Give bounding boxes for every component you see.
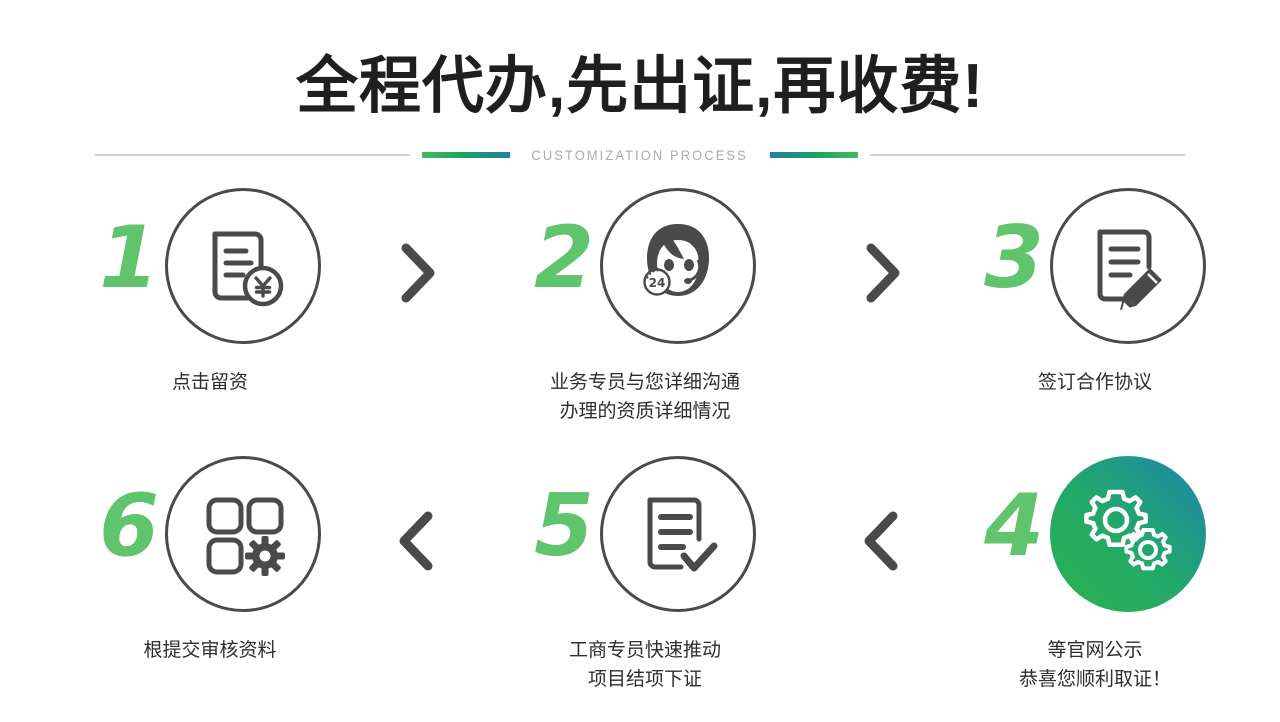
step-2-badge: 2 xyxy=(465,186,825,346)
step-5-label-line1: 工商专员快速推动 xyxy=(465,636,825,665)
page-title: 全程代办,先出证,再收费! xyxy=(0,54,1280,119)
step-5-label-line2: 项目结项下证 xyxy=(465,665,825,694)
step-2-circle: 24 xyxy=(600,188,756,344)
document-pencil-icon xyxy=(1078,216,1178,316)
subtitle: CUSTOMIZATION PROCESS xyxy=(532,147,748,163)
step-2-label-line2: 办理的资质详细情况 xyxy=(465,397,825,426)
step-2-label: 业务专员与您详细沟通 办理的资质详细情况 xyxy=(465,368,825,427)
step-6-label-line1: 根提交审核资料 xyxy=(30,636,390,665)
gear-icon xyxy=(245,536,285,576)
step-4-number: 4 xyxy=(984,483,1044,569)
step-2[interactable]: 2 xyxy=(465,186,825,427)
header: 全程代办,先出证,再收费! xyxy=(0,0,1280,119)
step-3[interactable]: 3 xyxy=(915,186,1275,397)
chevron-right-1 xyxy=(390,238,444,308)
step-5-badge: 5 xyxy=(465,454,825,614)
step-4-badge: 4 xyxy=(915,454,1275,614)
step-2-label-line1: 业务专员与您详细沟通 xyxy=(465,368,825,397)
chevron-right-2 xyxy=(855,238,909,308)
step-3-badge: 3 xyxy=(915,186,1275,346)
document-check-icon xyxy=(628,484,728,584)
step-3-number: 3 xyxy=(984,215,1044,301)
chevron-left-1 xyxy=(390,506,444,576)
step-6-number: 6 xyxy=(99,483,159,569)
step-4-label-line1: 等官网公示 xyxy=(915,636,1275,665)
badge-24-text: 24 xyxy=(649,276,666,290)
step-1[interactable]: 1 xyxy=(30,186,390,397)
gears-icon xyxy=(1076,482,1180,586)
step-3-label: 签订合作协议 xyxy=(915,368,1275,397)
chevron-left-2 xyxy=(855,506,909,576)
step-6-badge: 6 xyxy=(30,454,390,614)
step-3-label-line1: 签订合作协议 xyxy=(915,368,1275,397)
steps-grid: 1 xyxy=(0,186,1280,722)
divider-line-left xyxy=(95,154,410,156)
step-1-badge: 1 xyxy=(30,186,390,346)
step-4[interactable]: 4 xyxy=(915,454,1275,695)
step-1-number: 1 xyxy=(99,215,159,301)
step-3-circle xyxy=(1050,188,1206,344)
grid-gear-icon xyxy=(193,484,293,584)
step-5-number: 5 xyxy=(534,483,594,569)
step-6-label: 根提交审核资料 xyxy=(30,636,390,665)
step-5-label: 工商专员快速推动 项目结项下证 xyxy=(465,636,825,695)
divider-accent-right xyxy=(770,152,858,158)
steps-row-bottom: 6 xyxy=(0,454,1280,722)
step-1-label: 点击留资 xyxy=(30,368,390,397)
divider-accent-left xyxy=(422,152,510,158)
steps-row-top: 1 xyxy=(0,186,1280,454)
step-4-circle xyxy=(1050,456,1206,612)
divider: CUSTOMIZATION PROCESS xyxy=(95,146,1185,164)
step-1-circle xyxy=(165,188,321,344)
document-yen-icon xyxy=(195,218,291,314)
headset-agent-icon: 24 xyxy=(622,210,734,322)
badge-24: 24 xyxy=(644,269,669,295)
step-4-label-line2: 恭喜您顺利取证！ xyxy=(915,665,1275,694)
step-2-number: 2 xyxy=(534,215,594,301)
step-6[interactable]: 6 xyxy=(30,454,390,665)
divider-line-right xyxy=(870,154,1185,156)
step-4-label: 等官网公示 恭喜您顺利取证！ xyxy=(915,636,1275,695)
infographic-page: 全程代办,先出证,再收费! CUSTOMIZATION PROCESS 1 xyxy=(0,0,1280,720)
step-5-circle xyxy=(600,456,756,612)
step-5[interactable]: 5 工商专员快速推动 项目结项下证 xyxy=(465,454,825,695)
step-1-label-line1: 点击留资 xyxy=(30,368,390,397)
step-6-circle xyxy=(165,456,321,612)
